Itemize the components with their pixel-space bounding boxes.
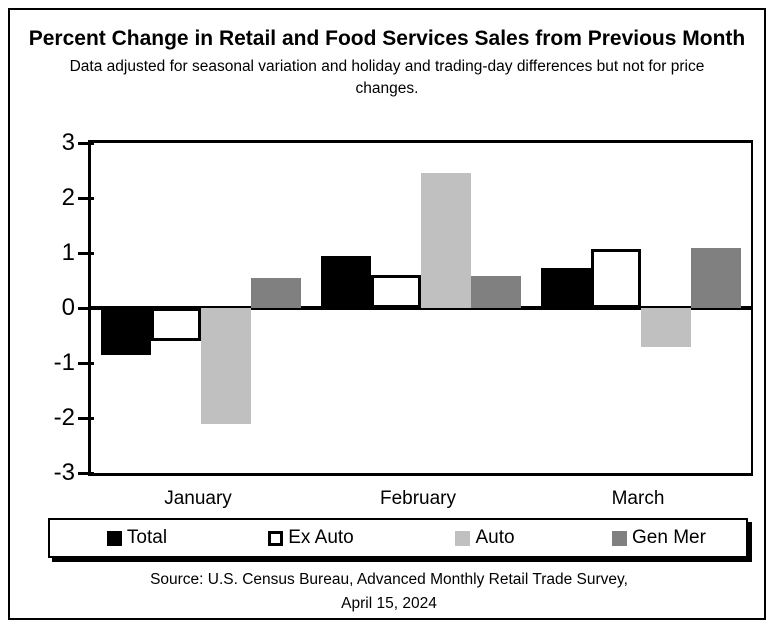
legend-item-ex-auto[interactable]: Ex Auto xyxy=(224,527,398,549)
bar-january-gen-mer xyxy=(251,278,301,308)
legend-swatch-icon xyxy=(455,531,470,546)
legend-swatch-icon xyxy=(612,531,627,546)
bar-march-auto xyxy=(641,308,691,347)
x-axis-label-january: January xyxy=(164,488,232,510)
y-axis-tick-label: -3 xyxy=(54,461,75,485)
legend-swatch-icon xyxy=(268,531,283,546)
x-axis-label-february: February xyxy=(380,488,456,510)
y-axis-tick-mark xyxy=(78,142,94,145)
y-axis-tick-mark xyxy=(78,307,94,310)
legend-item-auto[interactable]: Auto xyxy=(398,527,572,549)
y-axis-tick-label: 2 xyxy=(62,186,75,210)
bar-march-gen-mer xyxy=(691,248,741,309)
x-axis-label-march: March xyxy=(612,488,665,510)
bar-january-ex-auto xyxy=(151,308,201,341)
legend-swatch-icon xyxy=(107,531,122,546)
bar-february-gen-mer xyxy=(471,276,521,308)
legend-item-total[interactable]: Total xyxy=(50,527,224,549)
bar-january-total xyxy=(101,308,151,355)
y-axis-tick-label: 3 xyxy=(62,131,75,155)
source-note: Source: U.S. Census Bureau, Advanced Mon… xyxy=(10,568,768,616)
bar-march-ex-auto xyxy=(591,249,641,308)
y-axis-tick-mark xyxy=(78,417,94,420)
bar-february-total xyxy=(321,256,371,308)
legend-item-gen-mer[interactable]: Gen Mer xyxy=(572,527,746,549)
y-axis-tick-label: 1 xyxy=(62,241,75,265)
chart-frame: Percent Change in Retail and Food Servic… xyxy=(8,8,766,620)
y-axis-tick-label: -2 xyxy=(54,406,75,430)
legend-label: Ex Auto xyxy=(288,527,354,549)
legend-label: Total xyxy=(127,527,167,549)
y-axis-tick-label: 0 xyxy=(62,296,75,320)
plot-wrapper: 3210-1-2-3 JanuaryFebruaryMarch TotalEx … xyxy=(10,10,768,622)
legend-label: Auto xyxy=(475,527,514,549)
source-line-2: April 15, 2024 xyxy=(10,592,768,616)
y-axis-tick-mark xyxy=(78,362,94,365)
bar-february-ex-auto xyxy=(371,275,421,308)
y-axis-tick-mark xyxy=(78,197,94,200)
plot-area: 3210-1-2-3 xyxy=(88,140,753,476)
bar-march-total xyxy=(541,268,591,308)
chart-legend: TotalEx AutoAutoGen Mer xyxy=(48,518,748,558)
source-line-1: Source: U.S. Census Bureau, Advanced Mon… xyxy=(10,568,768,592)
bar-february-auto xyxy=(421,173,471,308)
y-axis-tick-mark xyxy=(78,252,94,255)
y-axis-tick-mark xyxy=(78,472,94,475)
bar-january-auto xyxy=(201,308,251,424)
legend-label: Gen Mer xyxy=(632,527,706,549)
y-axis-tick-label: -1 xyxy=(54,351,75,375)
